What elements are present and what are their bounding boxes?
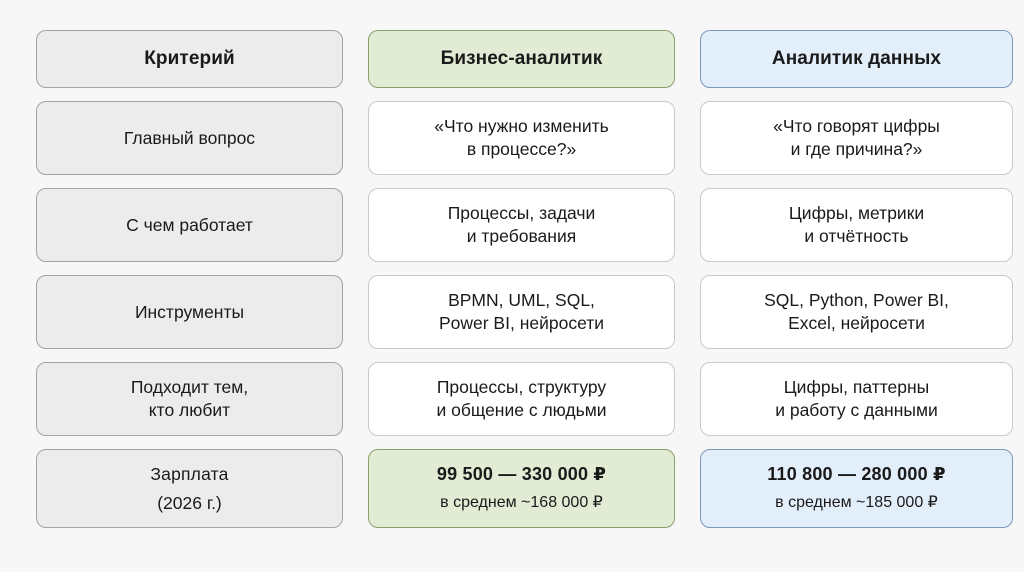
header-cell-business-analyst: Бизнес-аналитик	[368, 30, 675, 88]
salary-ba-stack: 99 500 — 330 000 ₽ в среднем ~168 000 ₽	[437, 463, 606, 513]
criterion-label: Подходит тем, кто любит	[36, 362, 343, 436]
table-row: С чем работает Процессы, задачи и требов…	[36, 188, 992, 262]
comparison-table: Критерий Бизнес-аналитик Аналитик данных…	[0, 0, 1024, 572]
value-business-analyst: Процессы, задачи и требования	[368, 188, 675, 262]
salary-business-analyst: 99 500 — 330 000 ₽ в среднем ~168 000 ₽	[368, 449, 675, 528]
criterion-label: С чем работает	[36, 188, 343, 262]
salary-ba-range: 99 500 — 330 000 ₽	[437, 463, 606, 486]
value-business-analyst: BPMN, UML, SQL, Power BI, нейросети	[368, 275, 675, 349]
header-cell-data-analyst: Аналитик данных	[700, 30, 1013, 88]
salary-da-stack: 110 800 — 280 000 ₽ в среднем ~185 000 ₽	[767, 463, 945, 513]
table-header-row: Критерий Бизнес-аналитик Аналитик данных	[36, 30, 992, 88]
value-business-analyst: «Что нужно изменить в процессе?»	[368, 101, 675, 175]
criterion-label: Главный вопрос	[36, 101, 343, 175]
salary-da-average: в среднем ~185 000 ₽	[775, 493, 938, 514]
header-cell-criterion: Критерий	[36, 30, 343, 88]
salary-ba-average: в среднем ~168 000 ₽	[440, 493, 603, 514]
salary-data-analyst: 110 800 — 280 000 ₽ в среднем ~185 000 ₽	[700, 449, 1013, 528]
criterion-label: Инструменты	[36, 275, 343, 349]
value-data-analyst: SQL, Python, Power BI, Excel, нейросети	[700, 275, 1013, 349]
criterion-label-salary: Зарплата (2026 г.)	[36, 449, 343, 528]
table-row-salary: Зарплата (2026 г.) 99 500 — 330 000 ₽ в …	[36, 449, 992, 528]
salary-da-range: 110 800 — 280 000 ₽	[767, 463, 945, 486]
table-row: Инструменты BPMN, UML, SQL, Power BI, не…	[36, 275, 992, 349]
value-data-analyst: «Что говорят цифры и где причина?»	[700, 101, 1013, 175]
salary-criterion-stack: Зарплата (2026 г.)	[150, 463, 228, 515]
salary-criterion-line1: Зарплата	[150, 463, 228, 486]
value-data-analyst: Цифры, метрики и отчётность	[700, 188, 1013, 262]
value-business-analyst: Процессы, структуру и общение с людьми	[368, 362, 675, 436]
table-row: Подходит тем, кто любит Процессы, структ…	[36, 362, 992, 436]
salary-criterion-line2: (2026 г.)	[157, 492, 222, 515]
table-row: Главный вопрос «Что нужно изменить в про…	[36, 101, 992, 175]
value-data-analyst: Цифры, паттерны и работу с данными	[700, 362, 1013, 436]
